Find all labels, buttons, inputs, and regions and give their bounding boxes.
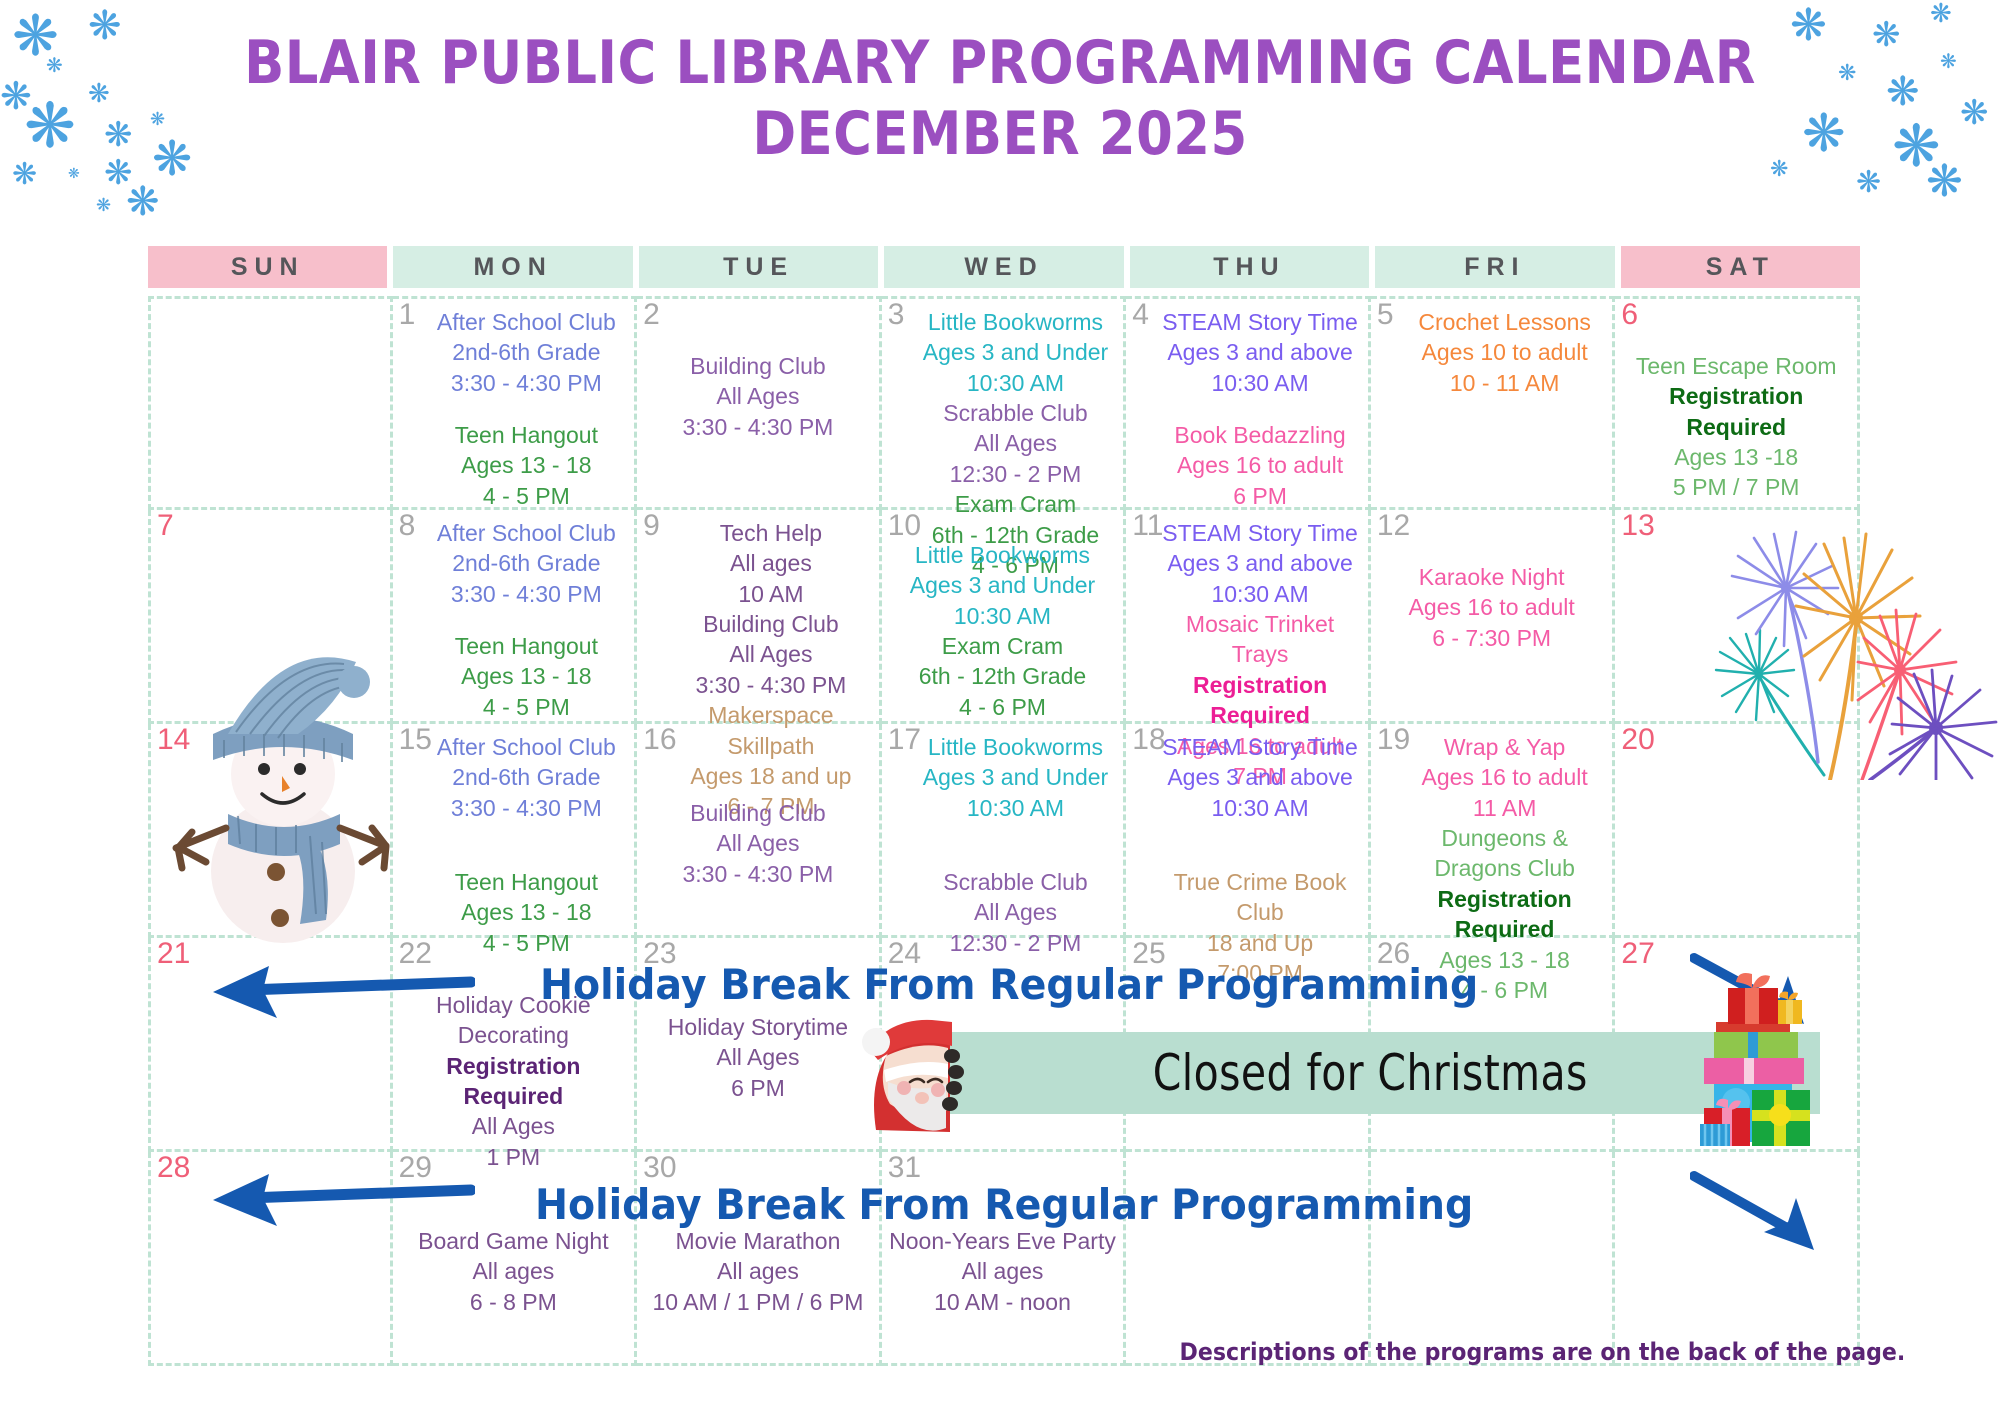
event-spacer bbox=[641, 329, 875, 351]
event-line: Teen Escape Room bbox=[1619, 351, 1853, 381]
calendar-day-cell[interactable]: 19Wrap & YapAges 16 to adult11 AMDungeon… bbox=[1371, 724, 1616, 938]
event-line: 10:30 AM bbox=[1156, 579, 1364, 609]
calendar-event[interactable]: Holiday StorytimeAll Ages6 PM bbox=[641, 1012, 875, 1103]
event-line: 2nd-6th Grade bbox=[423, 548, 631, 578]
event-spacer bbox=[423, 845, 631, 867]
event-line: 5 PM / 7 PM bbox=[1619, 472, 1853, 502]
event-line: 12:30 - 2 PM bbox=[912, 459, 1120, 489]
event-line: 4 - 5 PM bbox=[423, 692, 631, 722]
event-line: 10:30 AM bbox=[912, 368, 1120, 398]
calendar-day-cell[interactable]: 6Teen Escape RoomRegistration RequiredAg… bbox=[1615, 296, 1860, 510]
calendar-event[interactable]: Teen HangoutAges 13 - 184 - 5 PM bbox=[423, 420, 631, 511]
event-line: 10 AM - noon bbox=[886, 1287, 1120, 1317]
closed-for-christmas-banner: Closed for Christmas bbox=[920, 1032, 1820, 1114]
event-line: Holiday Storytime bbox=[641, 1012, 875, 1042]
event-spacer bbox=[1619, 307, 1853, 329]
event-line: STEAM Story Time bbox=[1156, 518, 1364, 548]
day-events: After School Club2nd-6th Grade3:30 - 4:3… bbox=[397, 728, 631, 958]
event-line: True Crime Book Club bbox=[1156, 867, 1364, 928]
event-line: Ages 10 to adult bbox=[1401, 337, 1609, 367]
day-of-week-header-row: SUNMONTUEWEDTHUFRISAT bbox=[148, 246, 1860, 288]
day-events bbox=[1375, 1156, 1609, 1160]
calendar-week-row: 78After School Club2nd-6th Grade3:30 - 4… bbox=[148, 510, 1860, 724]
calendar-day-cell[interactable]: 17Little BookwormsAges 3 and Under10:30 … bbox=[882, 724, 1127, 938]
event-line: Teen Hangout bbox=[423, 867, 631, 897]
day-events: Building ClubAll Ages3:30 - 4:30 PM bbox=[641, 303, 875, 442]
calendar-day-cell[interactable]: 5Crochet LessonsAges 10 to adult10 - 11 … bbox=[1371, 296, 1616, 510]
calendar-event[interactable]: STEAM Story TimeAges 3 and above10:30 AM bbox=[1156, 307, 1364, 398]
day-events bbox=[155, 1156, 386, 1160]
event-line: Ages 3 and above bbox=[1156, 548, 1364, 578]
event-line: Ages 13 - 18 bbox=[423, 897, 631, 927]
event-line: All Ages bbox=[397, 1111, 631, 1141]
registration-required-label: Registration Required bbox=[1156, 670, 1364, 731]
event-spacer bbox=[912, 823, 1120, 845]
calendar-day-cell[interactable]: 7 bbox=[148, 510, 393, 724]
event-line: Ages 16 to adult bbox=[1156, 450, 1364, 480]
day-events: Crochet LessonsAges 10 to adult10 - 11 A… bbox=[1375, 303, 1609, 398]
event-line: Ages 13 -18 bbox=[1619, 442, 1853, 472]
event-line: 4 - 5 PM bbox=[423, 481, 631, 511]
calendar-event[interactable]: Karaoke NightAges 16 to adult6 - 7:30 PM bbox=[1375, 562, 1609, 653]
day-events bbox=[1619, 1156, 1853, 1160]
calendar-event[interactable]: Building ClubAll Ages3:30 - 4:30 PM bbox=[641, 798, 875, 889]
calendar-day-cell[interactable]: 1After School Club2nd-6th Grade3:30 - 4:… bbox=[393, 296, 638, 510]
event-line: Building Club bbox=[667, 609, 875, 639]
day-of-week-sat: SAT bbox=[1621, 246, 1860, 288]
event-line: All Ages bbox=[641, 1042, 875, 1072]
event-line: 10 AM bbox=[667, 579, 875, 609]
event-line: Movie Marathon bbox=[641, 1226, 875, 1256]
calendar-event[interactable]: Board Game NightAll ages6 - 8 PM bbox=[397, 1226, 631, 1317]
calendar-day-cell[interactable]: 12Karaoke NightAges 16 to adult6 - 7:30 … bbox=[1371, 510, 1616, 724]
calendar-event[interactable]: After School Club2nd-6th Grade3:30 - 4:3… bbox=[423, 732, 631, 823]
snowflake-icon: ❋ bbox=[96, 196, 111, 214]
event-line: Teen Hangout bbox=[423, 631, 631, 661]
calendar-day-cell[interactable]: 11STEAM Story TimeAges 3 and above10:30 … bbox=[1126, 510, 1371, 724]
event-line: All Ages bbox=[912, 428, 1120, 458]
calendar-day-cell[interactable]: 10Little BookwormsAges 3 and Under10:30 … bbox=[882, 510, 1127, 724]
event-line: Building Club bbox=[641, 798, 875, 828]
event-line: 6 - 8 PM bbox=[397, 1287, 631, 1317]
event-line: Tech Help bbox=[667, 518, 875, 548]
event-line: 10:30 AM bbox=[1156, 793, 1364, 823]
calendar-day-cell[interactable]: 18STEAM Story TimeAges 3 and above10:30 … bbox=[1126, 724, 1371, 938]
registration-required-label: Registration Required bbox=[1401, 884, 1609, 945]
event-line: All ages bbox=[641, 1256, 875, 1286]
calendar-day-cell[interactable] bbox=[148, 296, 393, 510]
calendar-event[interactable]: Building ClubAll Ages3:30 - 4:30 PM bbox=[641, 351, 875, 442]
event-line: 3:30 - 4:30 PM bbox=[641, 412, 875, 442]
event-spacer bbox=[641, 307, 875, 329]
event-spacer bbox=[1156, 845, 1364, 867]
day-events bbox=[155, 728, 386, 732]
calendar-day-cell[interactable]: 2Building ClubAll Ages3:30 - 4:30 PM bbox=[637, 296, 882, 510]
page-title: BLAIR PUBLIC LIBRARY PROGRAMMING CALENDA… bbox=[0, 28, 2000, 170]
event-line: 10 AM / 1 PM / 6 PM bbox=[641, 1287, 875, 1317]
event-line: Crochet Lessons bbox=[1401, 307, 1609, 337]
event-spacer bbox=[912, 845, 1120, 867]
event-spacer bbox=[1375, 518, 1609, 540]
event-line: Little Bookworms bbox=[886, 540, 1120, 570]
event-line: Ages 13 - 18 bbox=[423, 661, 631, 691]
event-line: Dungeons & bbox=[1401, 823, 1609, 853]
registration-required-label: Registration Required bbox=[1619, 381, 1853, 442]
event-line: Ages 3 and above bbox=[1156, 337, 1364, 367]
event-spacer bbox=[423, 609, 631, 631]
calendar-day-cell[interactable]: 4STEAM Story TimeAges 3 and above10:30 A… bbox=[1126, 296, 1371, 510]
calendar-day-cell[interactable]: 16Building ClubAll Ages3:30 - 4:30 PM bbox=[637, 724, 882, 938]
event-line: Ages 13 - 18 bbox=[423, 450, 631, 480]
day-events: Karaoke NightAges 16 to adult6 - 7:30 PM bbox=[1375, 514, 1609, 653]
calendar-event[interactable]: Book BedazzlingAges 16 to adult6 PM bbox=[1156, 420, 1364, 511]
event-spacer bbox=[886, 518, 1120, 540]
calendar-day-cell[interactable]: 9Tech HelpAll ages10 AMBuilding ClubAll … bbox=[637, 510, 882, 724]
event-spacer bbox=[1375, 540, 1609, 562]
calendar-event[interactable]: Teen Escape RoomRegistration RequiredAge… bbox=[1619, 351, 1853, 503]
day-events: Teen Escape RoomRegistration RequiredAge… bbox=[1619, 303, 1853, 503]
event-line: 6 PM bbox=[641, 1073, 875, 1103]
event-line: 10:30 AM bbox=[912, 793, 1120, 823]
event-line: Noon-Years Eve Party bbox=[886, 1226, 1120, 1256]
arrow-left-icon-2 bbox=[205, 1168, 475, 1238]
day-events: STEAM Story TimeAges 3 and above10:30 AM… bbox=[1130, 303, 1364, 511]
day-events bbox=[1619, 728, 1853, 732]
event-line: All Ages bbox=[641, 828, 875, 858]
day-events bbox=[1130, 942, 1364, 946]
day-events: After School Club2nd-6th Grade3:30 - 4:3… bbox=[397, 303, 631, 511]
event-line: Ages 3 and Under bbox=[912, 337, 1120, 367]
calendar-event[interactable]: Tech HelpAll ages10 AM bbox=[667, 518, 875, 609]
event-line: 3:30 - 4:30 PM bbox=[423, 368, 631, 398]
event-line: 2nd-6th Grade bbox=[423, 337, 631, 367]
event-spacer bbox=[641, 732, 875, 754]
day-events bbox=[155, 514, 386, 518]
event-line: 3:30 - 4:30 PM bbox=[641, 859, 875, 889]
footer-note: Descriptions of the programs are on the … bbox=[1180, 1338, 1906, 1366]
day-of-week-thu: THU bbox=[1130, 246, 1369, 288]
event-line: Teen Hangout bbox=[423, 420, 631, 450]
day-events: Little BookwormsAges 3 and Under10:30 AM… bbox=[886, 514, 1120, 722]
day-events bbox=[155, 303, 386, 307]
event-line: Scrabble Club bbox=[912, 867, 1120, 897]
event-line: Dragons Club bbox=[1401, 853, 1609, 883]
day-events bbox=[1619, 942, 1853, 946]
calendar-event[interactable]: Teen HangoutAges 13 - 184 - 5 PM bbox=[423, 631, 631, 722]
event-line: 6 - 7:30 PM bbox=[1375, 623, 1609, 653]
event-line: STEAM Story Time bbox=[1156, 732, 1364, 762]
arrow-right-icon-2 bbox=[1690, 1170, 1820, 1260]
event-line: STEAM Story Time bbox=[1156, 307, 1364, 337]
calendar-event[interactable]: After School Club2nd-6th Grade3:30 - 4:3… bbox=[423, 307, 631, 398]
event-spacer bbox=[641, 1160, 875, 1182]
day-of-week-mon: MON bbox=[393, 246, 632, 288]
day-of-week-sun: SUN bbox=[148, 246, 387, 288]
calendar-event[interactable]: Little BookwormsAges 3 and Under10:30 AM bbox=[912, 732, 1120, 823]
event-line: Wrap & Yap bbox=[1401, 732, 1609, 762]
event-line: Ages 3 and Under bbox=[912, 762, 1120, 792]
event-line: Exam Cram bbox=[886, 631, 1120, 661]
event-line: 2nd-6th Grade bbox=[423, 762, 631, 792]
event-line: Ages 16 to adult bbox=[1375, 592, 1609, 622]
event-line: 10:30 AM bbox=[886, 601, 1120, 631]
event-line: 10:30 AM bbox=[1156, 368, 1364, 398]
page-title-line-1: BLAIR PUBLIC LIBRARY PROGRAMMING CALENDA… bbox=[120, 28, 1880, 99]
calendar-day-cell[interactable]: 20 bbox=[1615, 724, 1860, 938]
day-events bbox=[1619, 514, 1853, 518]
calendar-week-row: 1After School Club2nd-6th Grade3:30 - 4:… bbox=[148, 296, 1860, 510]
day-events: After School Club2nd-6th Grade3:30 - 4:3… bbox=[397, 514, 631, 722]
calendar-event[interactable]: Exam Cram6th - 12th Grade4 - 6 PM bbox=[886, 631, 1120, 722]
calendar-day-cell[interactable]: 15After School Club2nd-6th Grade3:30 - 4… bbox=[393, 724, 638, 938]
event-spacer bbox=[1156, 398, 1364, 420]
event-spacer bbox=[1619, 329, 1853, 351]
event-line: All ages bbox=[886, 1256, 1120, 1286]
calendar-event[interactable]: STEAM Story TimeAges 3 and above10:30 AM bbox=[1156, 518, 1364, 609]
calendar-day-cell[interactable]: 3Little BookwormsAges 3 and Under10:30 A… bbox=[882, 296, 1127, 510]
snowflake-icon: ❋ bbox=[126, 182, 160, 222]
calendar-event[interactable]: Movie MarathonAll ages10 AM / 1 PM / 6 P… bbox=[641, 1226, 875, 1317]
event-line: Ages 16 to adult bbox=[1401, 762, 1609, 792]
calendar-event[interactable]: Crochet LessonsAges 10 to adult10 - 11 A… bbox=[1401, 307, 1609, 398]
event-line: All Ages bbox=[667, 639, 875, 669]
day-events bbox=[155, 942, 386, 946]
arrow-right-icon bbox=[1690, 952, 1810, 1032]
event-line: After School Club bbox=[423, 307, 631, 337]
calendar-day-cell[interactable]: 14 bbox=[148, 724, 393, 938]
event-line: Ages 3 and Under bbox=[886, 570, 1120, 600]
holiday-break-banner-1: Holiday Break From Regular Programming bbox=[540, 960, 1478, 1009]
event-spacer bbox=[641, 754, 875, 776]
event-spacer bbox=[423, 823, 631, 845]
day-of-week-wed: WED bbox=[884, 246, 1123, 288]
event-line: 10 - 11 AM bbox=[1401, 368, 1609, 398]
event-line: 6 PM bbox=[1156, 481, 1364, 511]
event-line: Little Bookworms bbox=[912, 732, 1120, 762]
event-line: All Ages bbox=[641, 381, 875, 411]
event-line: All Ages bbox=[912, 897, 1120, 927]
event-line: Karaoke Night bbox=[1375, 562, 1609, 592]
event-line: Book Bedazzling bbox=[1156, 420, 1364, 450]
calendar-event[interactable]: Noon-Years Eve PartyAll ages10 AM - noon bbox=[886, 1226, 1120, 1317]
day-of-week-tue: TUE bbox=[639, 246, 878, 288]
event-line: All ages bbox=[667, 548, 875, 578]
event-line: After School Club bbox=[423, 518, 631, 548]
day-events bbox=[1130, 1156, 1364, 1160]
event-line: 3:30 - 4:30 PM bbox=[667, 670, 875, 700]
event-line: Building Club bbox=[641, 351, 875, 381]
calendar-event[interactable]: STEAM Story TimeAges 3 and above10:30 AM bbox=[1156, 732, 1364, 823]
event-line: 6th - 12th Grade bbox=[886, 661, 1120, 691]
calendar-week-row: 1415After School Club2nd-6th Grade3:30 -… bbox=[148, 724, 1860, 938]
calendar-event[interactable]: Wrap & YapAges 16 to adult11 AM bbox=[1401, 732, 1609, 823]
calendar-event[interactable]: After School Club2nd-6th Grade3:30 - 4:3… bbox=[423, 518, 631, 609]
event-line: Little Bookworms bbox=[912, 307, 1120, 337]
calendar-event[interactable]: Little BookwormsAges 3 and Under10:30 AM bbox=[912, 307, 1120, 398]
day-of-week-fri: FRI bbox=[1375, 246, 1614, 288]
day-events bbox=[886, 942, 1120, 946]
registration-required-label: Registration Required bbox=[397, 1051, 631, 1112]
snowflake-icon: ❋ bbox=[1856, 168, 1881, 198]
calendar-event[interactable]: Scrabble ClubAll Ages12:30 - 2 PM bbox=[912, 398, 1120, 489]
calendar-day-cell[interactable]: 13 bbox=[1615, 510, 1860, 724]
holiday-break-banner-2: Holiday Break From Regular Programming bbox=[535, 1180, 1473, 1229]
event-line: 11 AM bbox=[1401, 793, 1609, 823]
closed-for-christmas-label: Closed for Christmas bbox=[1152, 1044, 1587, 1102]
calendar-event[interactable]: Building ClubAll Ages3:30 - 4:30 PM bbox=[667, 609, 875, 700]
event-line: Scrabble Club bbox=[912, 398, 1120, 428]
event-line: 3:30 - 4:30 PM bbox=[423, 793, 631, 823]
event-line: Mosaic Trinket Trays bbox=[1156, 609, 1364, 670]
page-title-line-2: DECEMBER 2025 bbox=[120, 99, 1880, 170]
event-spacer bbox=[423, 398, 631, 420]
calendar-event[interactable]: Little BookwormsAges 3 and Under10:30 AM bbox=[886, 540, 1120, 631]
day-events bbox=[1375, 942, 1609, 946]
event-line: 3:30 - 4:30 PM bbox=[423, 579, 631, 609]
calendar-day-cell[interactable]: 8After School Club2nd-6th Grade3:30 - 4:… bbox=[393, 510, 638, 724]
event-spacer bbox=[886, 1160, 1120, 1182]
event-spacer bbox=[1156, 823, 1364, 845]
arrow-left-icon bbox=[205, 960, 475, 1030]
event-line: 4 - 6 PM bbox=[886, 692, 1120, 722]
day-events: Little BookwormsAges 3 and Under10:30 AM… bbox=[886, 728, 1120, 958]
day-events: Building ClubAll Ages3:30 - 4:30 PM bbox=[641, 728, 875, 889]
event-line: After School Club bbox=[423, 732, 631, 762]
event-line: All ages bbox=[397, 1256, 631, 1286]
event-spacer bbox=[641, 776, 875, 798]
event-line: Ages 3 and above bbox=[1156, 762, 1364, 792]
snowflake-icon: ❋ bbox=[1930, 0, 1952, 26]
